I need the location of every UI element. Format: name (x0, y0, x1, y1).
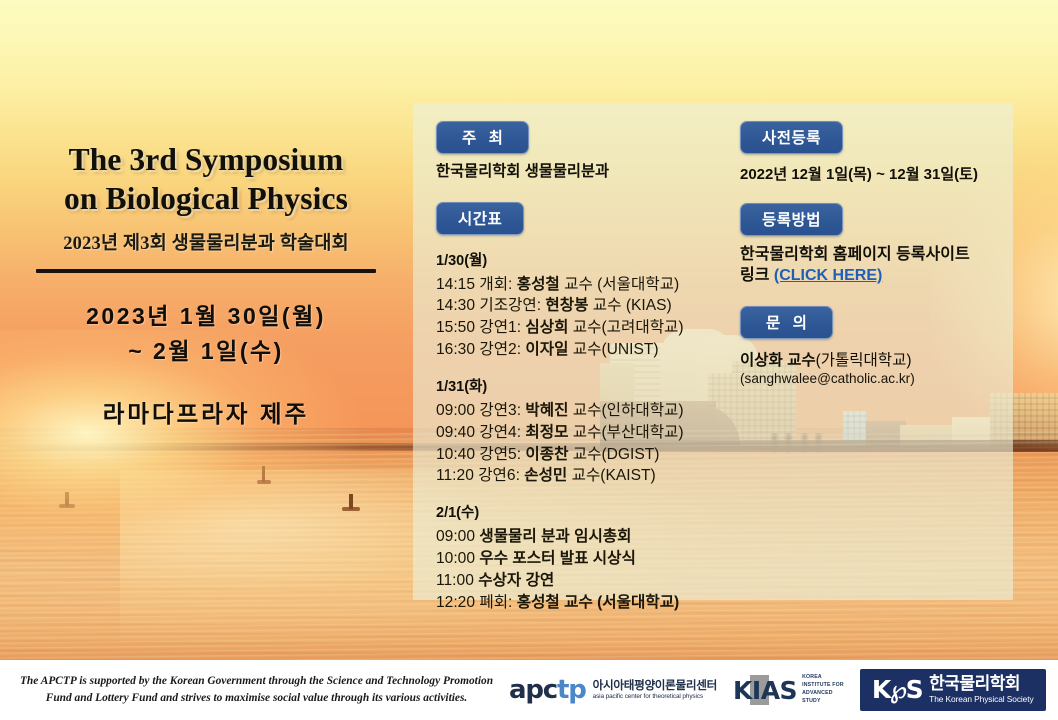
kps-wordmark: K℘S (872, 677, 922, 702)
schedule-time: 14:15 (436, 276, 479, 293)
preregistration-period: 2022년 12월 1일(목) ~ 12월 31일(토) (740, 163, 1002, 184)
schedule-row: 10:00 우수 포스터 발표 시상식 (436, 548, 746, 570)
event-date-line-1: 2023년 1월 30일(월) (18, 299, 394, 334)
schedule-row: 10:40 강연5: 이종찬 교수(DGIST) (436, 444, 746, 466)
apctp-text-block: 아시아태평양이론물리센터 asia pacific center for the… (593, 680, 717, 700)
schedule-speaker: 우수 포스터 발표 시상식 (479, 550, 635, 567)
poster-subtitle: 2023년 제3회 생물물리분과 학술대회 (18, 229, 394, 255)
schedule-affiliation: 교수(고려대학교) (573, 319, 684, 336)
kias-sub-3: ADVANCED (802, 690, 844, 698)
schedule-row: 15:50 강연1: 심상희 교수(고려대학교) (436, 317, 746, 339)
schedule-row: 12:20 폐회: 홍성철 교수 (서울대학교) (436, 592, 746, 614)
schedule-affiliation: 교수(인하대학교) (573, 402, 684, 419)
schedule-event: 강연1: (479, 319, 525, 336)
schedule-day-header: 2/1(수) (436, 501, 746, 522)
inquiry-email: (sanghwalee@catholic.ac.kr) (740, 371, 1002, 386)
schedule-time: 15:50 (436, 319, 479, 336)
preregistration-badge: 사전등록 (740, 121, 843, 154)
apctp-english-name: asia pacific center for theoretical phys… (593, 693, 717, 700)
schedule-speaker: 최정모 (525, 424, 572, 441)
footer-bar: The APCTP is supported by the Korean Gov… (0, 660, 1058, 720)
inquiry-institution: (가톨릭대학교) (816, 352, 912, 369)
schedule-badge: 시간표 (436, 202, 524, 235)
event-dates: 2023년 1월 30일(월) ~ 2월 1일(수) (18, 299, 394, 368)
schedule-row: 14:15 개회: 홍성철 교수 (서울대학교) (436, 274, 746, 296)
lighthouse-silhouette (262, 466, 265, 482)
info-panel: 주 최 한국물리학회 생물물리분과 시간표 1/30(월)14:15 개회: 홍… (413, 103, 1013, 600)
registration-method-text: 한국물리학회 홈페이지 등록사이트 링크 (CLICK HERE) (740, 245, 1002, 287)
schedule-speaker: 심상희 (525, 319, 572, 336)
schedule-time: 11:00 (436, 572, 478, 589)
inquiry-person-name: 이상화 교수 (740, 352, 816, 369)
kps-korean-name: 한국물리학회 (929, 675, 1033, 693)
schedule-day-header: 1/30(월) (436, 249, 746, 270)
apctp-wordmark: apctp (509, 677, 586, 703)
registration-method-badge: 등록방법 (740, 203, 843, 236)
apctp-korean-name: 아시아태평양이론물리센터 (593, 680, 717, 692)
schedule-list: 1/30(월)14:15 개회: 홍성철 교수 (서울대학교)14:30 기조강… (436, 249, 746, 614)
schedule-time: 09:00 (436, 402, 479, 419)
schedule-row: 09:00 생물물리 분과 임시총회 (436, 526, 746, 548)
registration-link-prefix: 링크 (740, 267, 774, 284)
kias-sub-1: KOREA (802, 674, 844, 682)
schedule-speaker: 홍성철 (517, 594, 564, 611)
schedule-event: 폐회: (479, 594, 516, 611)
schedule-event: 기조강연: (479, 297, 545, 314)
registration-column: 사전등록 2022년 12월 1일(목) ~ 12월 31일(토) 등록방법 한… (740, 121, 1002, 386)
schedule-row: 14:30 기조강연: 현창봉 교수 (KIAS) (436, 295, 746, 317)
click-here-link[interactable]: (CLICK HERE) (774, 267, 882, 284)
schedule-time: 09:40 (436, 424, 479, 441)
schedule-row: 11:00 수상자 강연 (436, 570, 746, 592)
schedule-column: 주 최 한국물리학회 생물물리분과 시간표 1/30(월)14:15 개회: 홍… (436, 121, 746, 614)
schedule-event: 강연5: (479, 446, 525, 463)
schedule-speaker: 수상자 강연 (478, 572, 554, 589)
title-line-1: The 3rd Symposium (18, 140, 394, 179)
poster-title: The 3rd Symposium on Biological Physics (18, 140, 394, 218)
schedule-time: 12:20 (436, 594, 479, 611)
title-divider (36, 269, 376, 273)
schedule-time: 10:40 (436, 446, 479, 463)
inquiry-badge: 문 의 (740, 306, 833, 339)
schedule-event: 강연4: (479, 424, 525, 441)
support-statement: The APCTP is supported by the Korean Gov… (0, 673, 505, 706)
schedule-event: 개회: (479, 276, 516, 293)
schedule-affiliation: 교수(KAIST) (572, 467, 656, 484)
schedule-speaker: 현창봉 (545, 297, 592, 314)
kps-text-block: 한국물리학회 The Korean Physical Society (929, 675, 1033, 704)
apctp-word-a: apc (509, 675, 557, 705)
host-badge: 주 최 (436, 121, 529, 154)
schedule-affiliation: 교수(UNIST) (573, 341, 659, 358)
event-venue: 라마다프라자 제주 (18, 395, 394, 429)
event-date-line-2: ~ 2월 1일(수) (18, 334, 394, 369)
schedule-time: 16:30 (436, 341, 479, 358)
kps-logo: K℘S 한국물리학회 The Korean Physical Society (860, 669, 1046, 711)
schedule-speaker: 손성민 (524, 467, 571, 484)
buoy-right (349, 494, 353, 509)
title-line-2: on Biological Physics (18, 179, 394, 218)
conference-poster: The 3rd Symposium on Biological Physics … (0, 0, 1058, 720)
schedule-time: 11:20 (436, 467, 478, 484)
schedule-event: 강연3: (479, 402, 525, 419)
schedule-speaker: 박혜진 (525, 402, 572, 419)
schedule-row: 09:00 강연3: 박혜진 교수(인하대학교) (436, 400, 746, 422)
schedule-affiliation: 교수 (서울대학교) (564, 594, 679, 611)
kias-sub-2: INSTITUTE FOR (802, 682, 844, 690)
sponsor-logos: apctp 아시아태평양이론물리센터 asia pacific center f… (505, 669, 1058, 711)
schedule-event: 강연2: (479, 341, 525, 358)
kias-sub-4: STUDY (802, 698, 844, 706)
schedule-day-header: 1/31(화) (436, 375, 746, 396)
inquiry-person: 이상화 교수(가톨릭대학교) (740, 348, 1002, 370)
kias-mark-ki: KI (733, 676, 761, 705)
kias-logo: KIAS KOREA INSTITUTE FOR ADVANCED STUDY (733, 674, 844, 705)
schedule-speaker: 이종찬 (525, 446, 572, 463)
registration-site-line: 한국물리학회 홈페이지 등록사이트 (740, 246, 970, 263)
schedule-row: 16:30 강연2: 이자일 교수(UNIST) (436, 339, 746, 361)
apctp-logo: apctp 아시아태평양이론물리센터 asia pacific center f… (509, 677, 717, 703)
schedule-affiliation: 교수(부산대학교) (573, 424, 684, 441)
schedule-time: 14:30 (436, 297, 479, 314)
schedule-speaker: 이자일 (525, 341, 572, 358)
kias-mark-as: AS (761, 676, 797, 705)
schedule-time: 10:00 (436, 550, 479, 567)
kps-english-name: The Korean Physical Society (929, 694, 1033, 704)
buoy-left (65, 492, 69, 506)
apctp-word-b: tp (557, 675, 586, 705)
title-column: The 3rd Symposium on Biological Physics … (0, 140, 412, 429)
schedule-row: 09:40 강연4: 최정모 교수(부산대학교) (436, 422, 746, 444)
schedule-speaker: 홍성철 (517, 276, 564, 293)
schedule-affiliation: 교수 (서울대학교) (564, 276, 679, 293)
schedule-row: 11:20 강연6: 손성민 교수(KAIST) (436, 465, 746, 487)
kias-wordmark: KIAS (733, 678, 797, 703)
host-value: 한국물리학회 생물물리분과 (436, 162, 746, 183)
schedule-time: 09:00 (436, 528, 479, 545)
schedule-speaker: 생물물리 분과 임시총회 (479, 528, 631, 545)
kias-subtitle: KOREA INSTITUTE FOR ADVANCED STUDY (802, 674, 844, 705)
schedule-affiliation: 교수 (KIAS) (593, 297, 672, 314)
schedule-affiliation: 교수(DGIST) (573, 446, 660, 463)
schedule-event: 강연6: (478, 467, 524, 484)
